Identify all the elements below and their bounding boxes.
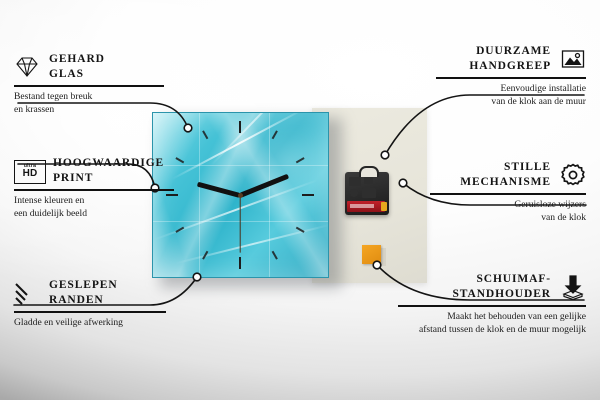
feature-title-line1: STILLE xyxy=(504,161,551,173)
feature-title: DUURZAME HANDGREEP xyxy=(469,44,551,73)
feature-title: STILLE MECHANISME xyxy=(460,160,551,189)
feature-divider xyxy=(14,189,174,191)
battery-label xyxy=(350,204,374,208)
feature-divider xyxy=(14,311,166,313)
clock-tick-12 xyxy=(239,121,241,133)
movement-part xyxy=(349,177,361,186)
feature-description: Geruisloze wijzers van de klok xyxy=(430,199,586,224)
battery-terminal xyxy=(381,202,387,211)
diamond-icon xyxy=(14,54,40,80)
clock-movement xyxy=(345,172,389,215)
feature-duurzame-handgreep: DUURZAME HANDGREEP Eenvoudige installati… xyxy=(436,44,586,108)
feature-header: DUURZAME HANDGREEP xyxy=(436,44,586,73)
feature-title-line1: GESLEPEN xyxy=(49,279,118,291)
feature-desc-line2: en krassen xyxy=(14,104,54,115)
feature-title-line1: DUURZAME xyxy=(476,45,551,57)
feature-desc-line1: Gladde en veilige afwerking xyxy=(14,317,123,328)
feature-description: Maakt het behouden van een gelijke afsta… xyxy=(398,311,586,336)
feature-desc-line1: Geruisloze wijzers xyxy=(514,199,586,210)
feature-desc-line1: Bestand tegen breuk xyxy=(14,91,92,102)
feature-title: GESLEPEN RANDEN xyxy=(49,278,118,307)
framed-picture-icon xyxy=(560,46,586,72)
feature-schuimafstandhouder: SCHUIMAF- STANDHOUDER Maakt het behouden… xyxy=(398,272,586,336)
feature-title: GEHARD GLAS xyxy=(49,52,105,81)
feature-desc-line2: van de klok xyxy=(541,212,586,223)
movement-part xyxy=(364,177,373,184)
clock-tick-6 xyxy=(239,257,241,269)
clock-grid-line xyxy=(269,113,270,277)
clock-tick-3 xyxy=(302,194,314,196)
glass-wall-clock xyxy=(152,112,329,278)
product-infographic: GEHARD GLAS Bestand tegen breuk en krass… xyxy=(0,0,600,400)
feature-title-line2: RANDEN xyxy=(49,294,104,306)
feature-header: SCHUIMAF- STANDHOUDER xyxy=(398,272,586,301)
clock-second-hand xyxy=(239,195,240,253)
feature-gehard-glas: GEHARD GLAS Bestand tegen breuk en krass… xyxy=(14,52,164,116)
feature-title-line2: GLAS xyxy=(49,68,84,80)
feature-hoogwaardige-print: ultra HD HOOGWAARDIGE PRINT Intense kleu… xyxy=(14,156,174,220)
movement-part xyxy=(350,189,358,197)
gear-icon xyxy=(560,162,586,188)
feature-title-line1: GEHARD xyxy=(49,53,105,65)
feature-desc-line2: een duidelijk beeld xyxy=(14,208,87,219)
feature-title-line2: HANDGREEP xyxy=(469,60,551,72)
feature-title-line1: SCHUIMAF- xyxy=(476,273,551,285)
feature-title-line2: MECHANISME xyxy=(460,176,551,188)
hanging-hook xyxy=(359,166,379,177)
beveled-edges-icon xyxy=(14,280,40,306)
movement-part xyxy=(362,188,376,198)
feature-header: GEHARD GLAS xyxy=(14,52,164,81)
ultra-hd-badge-main: HD xyxy=(23,169,38,179)
feature-header: GESLEPEN RANDEN xyxy=(14,278,166,307)
down-arrow-pad-icon xyxy=(560,274,586,300)
feature-title-line1: HOOGWAARDIGE xyxy=(53,157,164,169)
feature-desc-line1: Maakt het behouden van een gelijke xyxy=(447,311,586,322)
feature-divider xyxy=(14,85,164,87)
foam-spacer-pad xyxy=(362,245,381,264)
foam-spacer-side xyxy=(381,248,386,266)
clock-grid-line xyxy=(153,165,328,166)
feature-desc-line2: afstand tussen de klok en de muur mogeli… xyxy=(419,324,586,335)
feature-description: Eenvoudige installatie van de klok aan d… xyxy=(436,83,586,108)
feature-description: Intense kleuren en een duidelijk beeld xyxy=(14,195,174,220)
feature-desc-line1: Intense kleuren en xyxy=(14,195,84,206)
feature-divider xyxy=(430,193,586,195)
clock-pivot xyxy=(238,193,243,198)
feature-divider xyxy=(436,77,586,79)
feature-desc-line1: Eenvoudige installatie xyxy=(500,83,586,94)
feature-description: Bestand tegen breuk en krassen xyxy=(14,91,164,116)
feature-title: SCHUIMAF- STANDHOUDER xyxy=(452,272,551,301)
ultra-hd-icon: ultra HD xyxy=(14,160,44,182)
feature-desc-line2: van de klok aan de muur xyxy=(491,96,586,107)
clock-grid-line xyxy=(199,113,200,277)
feature-stille-mechanisme: STILLE MECHANISME Geruisloze wijzers van… xyxy=(430,160,586,224)
feature-title-line2: STANDHOUDER xyxy=(452,288,551,300)
feature-divider xyxy=(398,305,586,307)
feature-header: ultra HD HOOGWAARDIGE PRINT xyxy=(14,156,174,185)
feature-description: Gladde en veilige afwerking xyxy=(14,317,166,330)
feature-geslepen-randen: GESLEPEN RANDEN Gladde en veilige afwerk… xyxy=(14,278,166,330)
feature-header: STILLE MECHANISME xyxy=(430,160,586,189)
feature-title-line2: PRINT xyxy=(53,172,93,184)
feature-title: HOOGWAARDIGE PRINT xyxy=(53,156,164,185)
battery xyxy=(347,201,385,212)
